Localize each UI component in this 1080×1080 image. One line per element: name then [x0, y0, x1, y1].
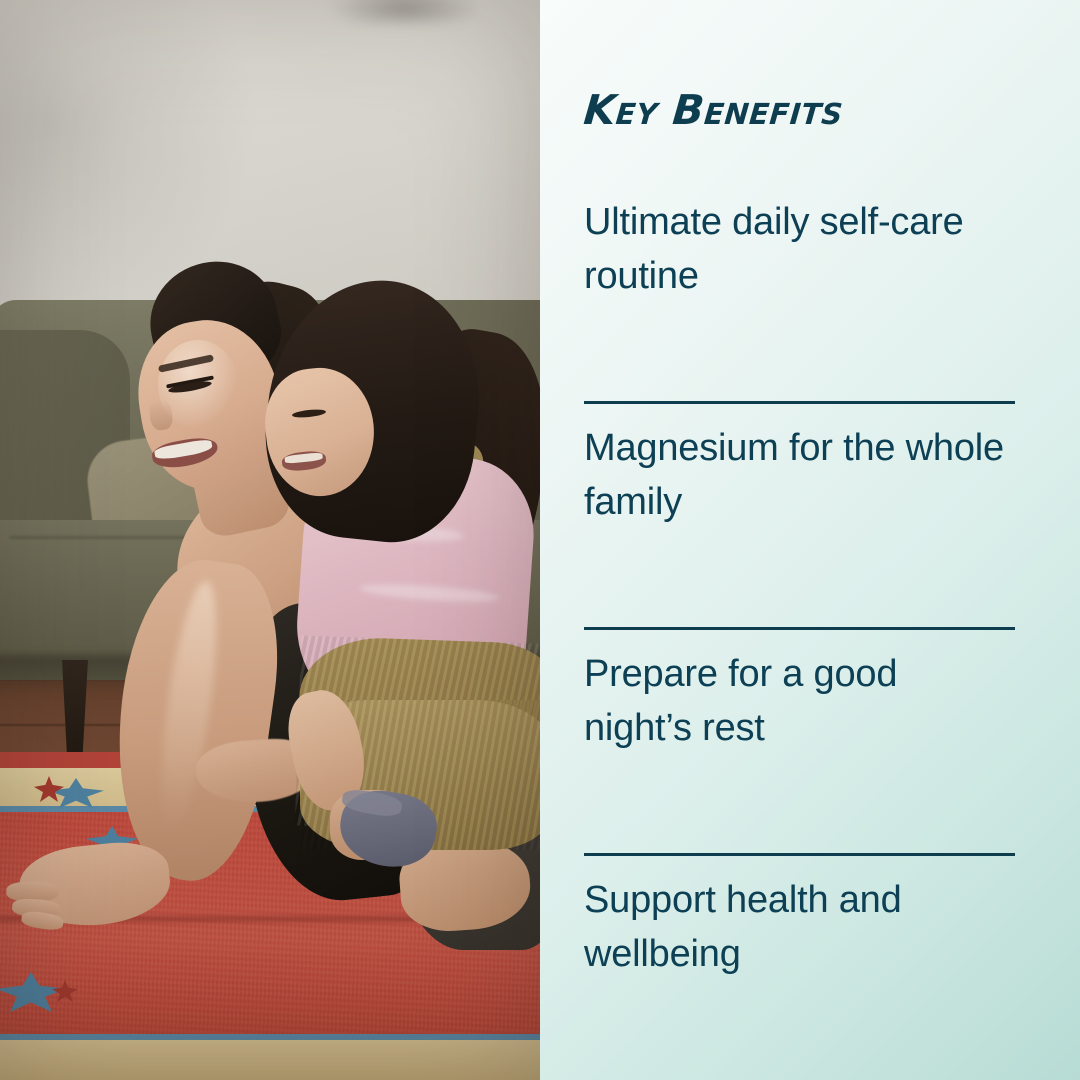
- key-benefits-panel: Key Benefits Ultimate daily self-care ro…: [540, 0, 1080, 1080]
- benefit-text: Prepare for a good night’s rest: [584, 648, 1004, 756]
- benefit-text: Support health and wellbeing: [584, 874, 1004, 982]
- benefits-list: Ultimate daily self-care routine Magnesi…: [584, 196, 1016, 1080]
- rug-cream-band: [0, 1040, 540, 1080]
- page-title: Key Benefits: [582, 86, 845, 134]
- child-teeth: [284, 452, 323, 464]
- wall-smudge: [330, 0, 480, 24]
- divider: [584, 627, 1015, 630]
- lifestyle-photo: [0, 0, 540, 1080]
- divider: [584, 853, 1015, 856]
- list-item: Magnesium for the whole family: [584, 422, 1016, 648]
- benefit-text: Magnesium for the whole family: [584, 422, 1004, 530]
- list-item: Prepare for a good night’s rest: [584, 648, 1016, 874]
- divider: [584, 401, 1015, 404]
- list-item: Ultimate daily self-care routine: [584, 196, 1016, 422]
- promo-graphic: Key Benefits Ultimate daily self-care ro…: [0, 0, 1080, 1080]
- list-item: Support health and wellbeing: [584, 874, 1016, 1080]
- benefit-text: Ultimate daily self-care routine: [584, 196, 1004, 304]
- fabric-fold: [359, 581, 500, 605]
